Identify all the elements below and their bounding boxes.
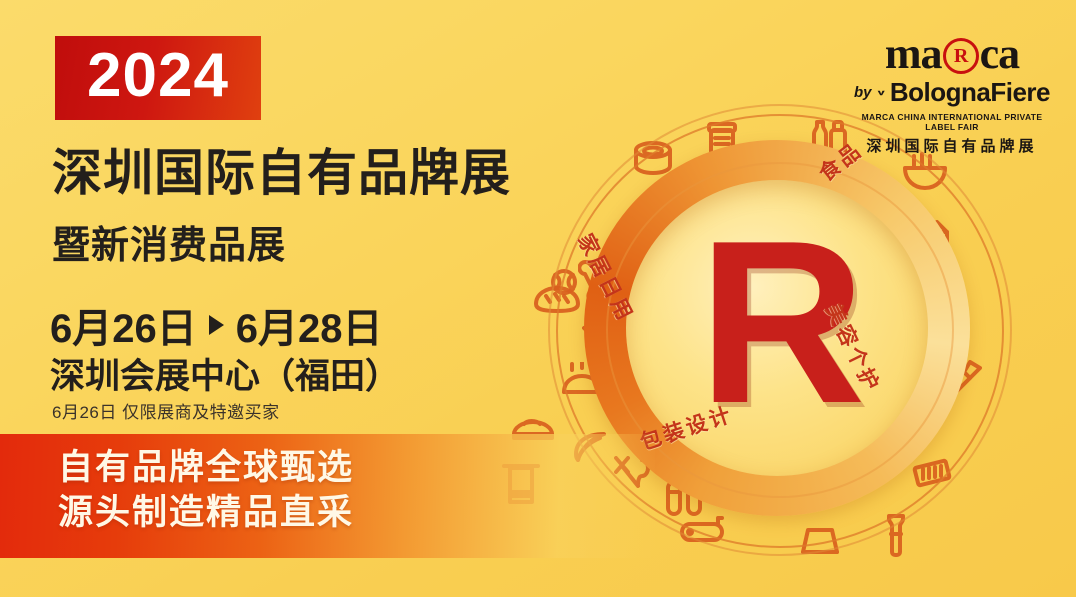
event-title-sub: 暨新消费品展: [52, 214, 286, 269]
checkmark-v-icon: [877, 84, 885, 102]
year-badge: 2024: [55, 36, 261, 120]
wordmark-left: ma: [885, 32, 942, 76]
slogan-line-2: 源头制造精品直采: [58, 491, 354, 536]
marca-logo: ma R ca by BolognaFiere MARCA CHINA INTE…: [854, 32, 1050, 156]
slogan-line-1: 自有品牌全球甄选: [58, 446, 354, 491]
event-date-range: 6月26日 6月28日: [50, 296, 383, 354]
bolognafiere-label: BolognaFiere: [890, 77, 1050, 108]
logo-tagline-cn: 深圳国际自有品牌展: [854, 135, 1050, 156]
event-poster: R 家居日用 食品 美容个护 包装设计 2024 深圳国际自有品牌展 暨新消费品…: [0, 0, 1076, 597]
registered-trademark-icon: R: [943, 38, 979, 74]
logo-tagline-en: MARCA CHINA INTERNATIONAL PRIVATE LABEL …: [854, 112, 1050, 132]
event-venue: 深圳会展中心（福田）: [50, 348, 400, 399]
slogan-text: 自有品牌全球甄选 源头制造精品直采: [58, 446, 354, 536]
arrow-right-icon: [209, 315, 224, 335]
marca-wordmark: ma R ca: [854, 32, 1050, 76]
by-label: by: [854, 84, 872, 101]
wordmark-right: ca: [980, 32, 1020, 76]
year-badge-label: 2024: [87, 45, 229, 111]
event-title-main: 深圳国际自有品牌展: [52, 146, 511, 200]
date-end: 6月28日: [236, 296, 383, 354]
date-start: 6月26日: [50, 296, 197, 354]
event-note: 6月26日 仅限展商及特邀买家: [52, 398, 280, 423]
bolognafiere-line: by BolognaFiere: [854, 77, 1050, 108]
